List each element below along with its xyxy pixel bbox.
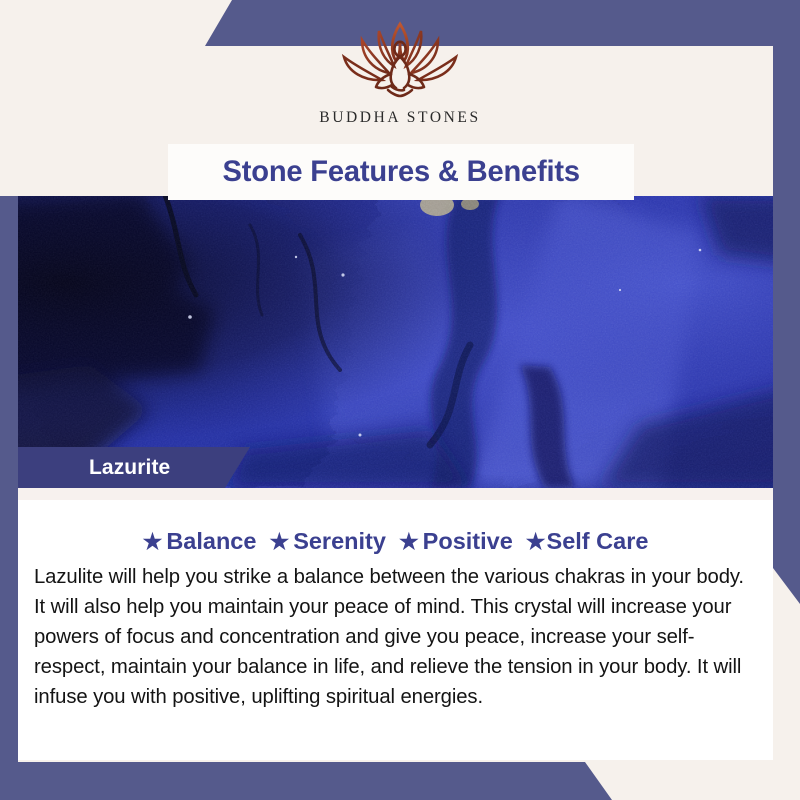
star-icon: ★ bbox=[526, 531, 546, 553]
benefit-item-self-care: ★ Self Care bbox=[526, 528, 649, 555]
stone-benefits-infographic: Lazurite ★ Balance ★ Serenity ★ Positive… bbox=[0, 0, 800, 800]
lotus-meditation-icon bbox=[334, 18, 466, 106]
benefit-label: Positive bbox=[423, 528, 513, 555]
frame-left-accent bbox=[0, 196, 18, 800]
brand-name: BUDDHA STONES bbox=[319, 109, 480, 127]
lazurite-stone-photo bbox=[0, 195, 800, 488]
stone-description-text: Lazulite will help you strike a balance … bbox=[34, 562, 752, 712]
stone-name-tag: Lazurite bbox=[0, 447, 250, 488]
page-title: Stone Features & Benefits bbox=[222, 155, 579, 189]
benefit-item-serenity: ★ Serenity bbox=[269, 528, 385, 555]
benefits-list: ★ Balance ★ Serenity ★ Positive ★ Self C… bbox=[18, 528, 773, 555]
page-title-plaque: Stone Features & Benefits bbox=[168, 144, 634, 200]
star-icon: ★ bbox=[399, 531, 419, 553]
benefit-label: Balance bbox=[166, 528, 256, 555]
benefit-item-positive: ★ Positive bbox=[399, 528, 513, 555]
frame-bottom-accent bbox=[0, 762, 800, 800]
stone-description: Lazulite will help you strike a balance … bbox=[34, 562, 752, 712]
panel-top-strip bbox=[18, 488, 773, 500]
brand-logo: BUDDHA STONES bbox=[0, 18, 800, 127]
benefit-label: Self Care bbox=[547, 528, 649, 555]
benefit-label: Serenity bbox=[293, 528, 386, 555]
star-icon: ★ bbox=[143, 531, 163, 553]
description-panel: ★ Balance ★ Serenity ★ Positive ★ Self C… bbox=[18, 488, 773, 760]
benefit-item-balance: ★ Balance bbox=[143, 528, 257, 555]
star-icon: ★ bbox=[269, 531, 289, 553]
stone-name-label: Lazurite bbox=[89, 456, 170, 480]
